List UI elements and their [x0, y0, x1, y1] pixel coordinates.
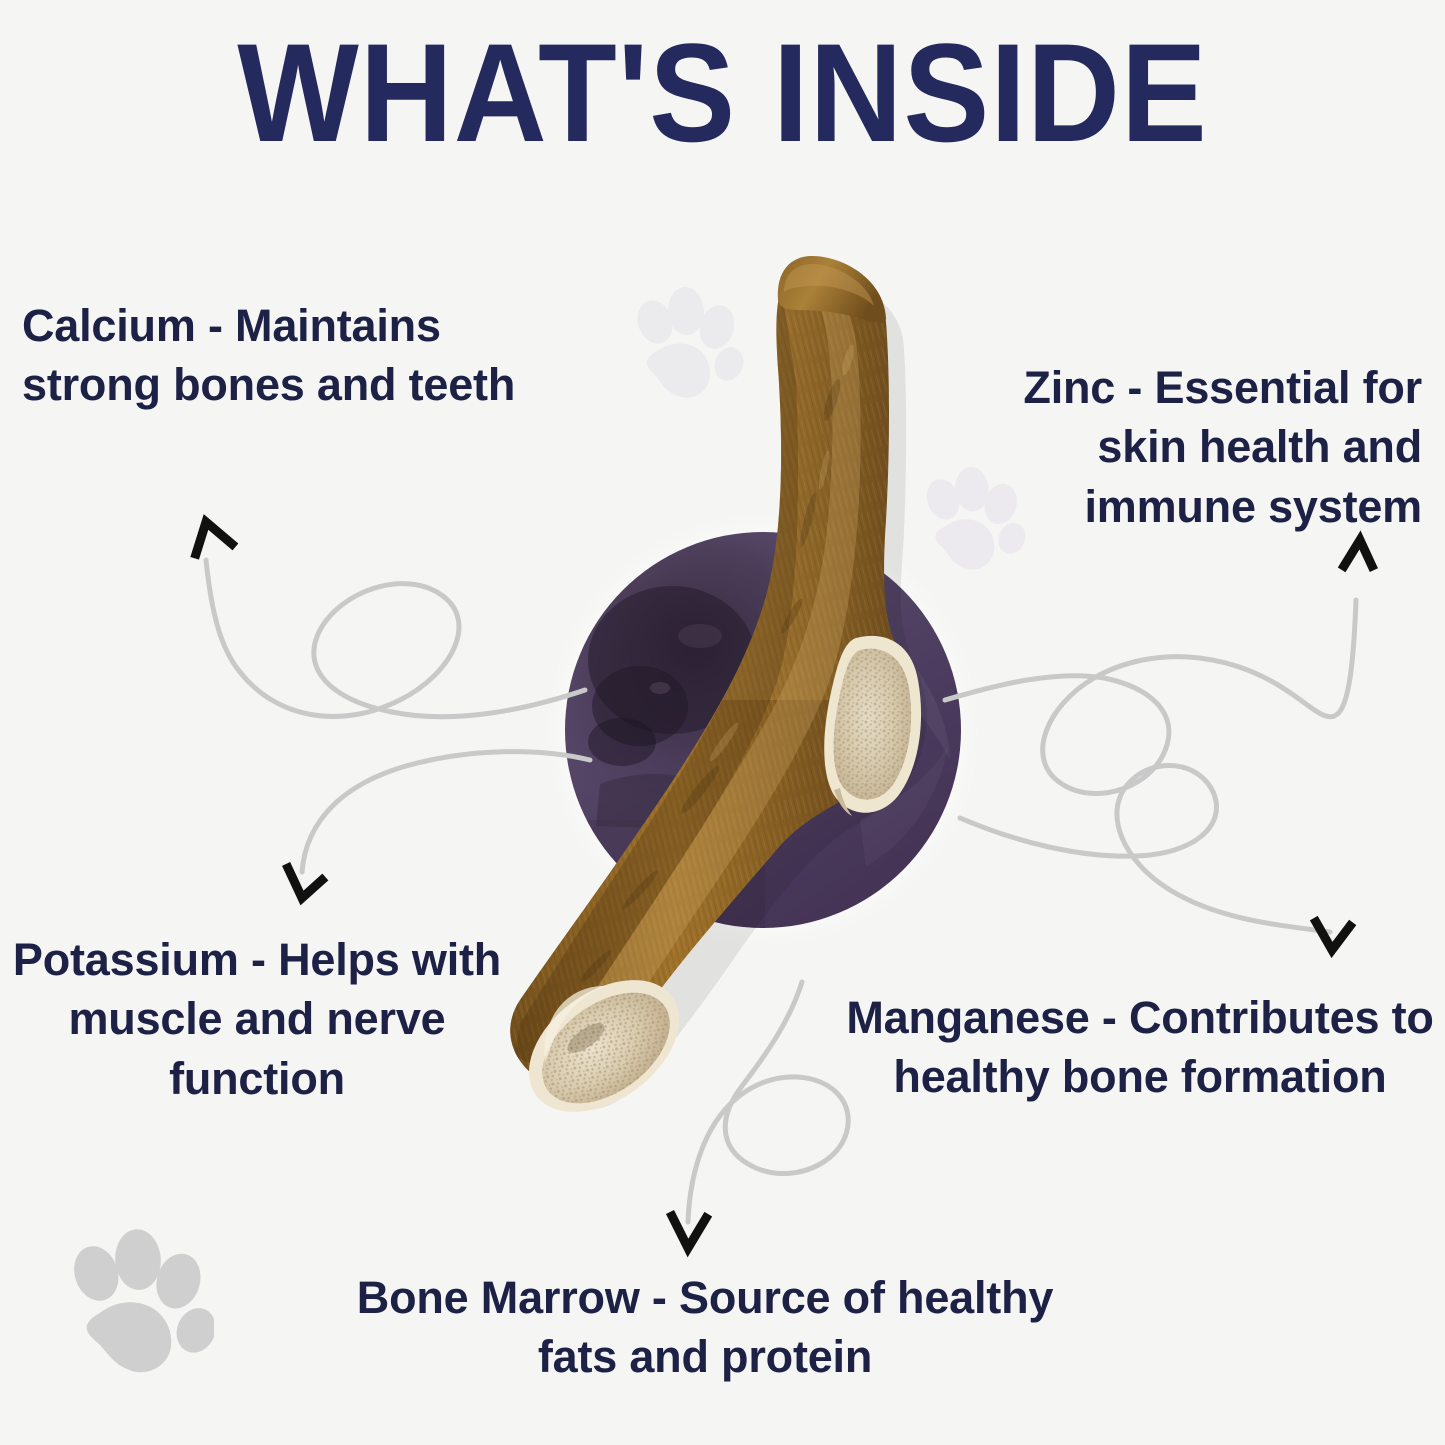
- connector-arrows: [0, 0, 1445, 1445]
- benefit-label-bone-marrow: Bone Marrow - Source of healthy fats and…: [320, 1268, 1090, 1387]
- arrowhead-zinc: [1344, 540, 1372, 566]
- marrow-cut-lower: [504, 953, 703, 1139]
- benefit-label-manganese: Manganese - Contributes to healthy bone …: [845, 988, 1435, 1107]
- page-title: WHAT'S INSIDE: [58, 22, 1387, 165]
- connector-zinc: [945, 600, 1356, 793]
- benefit-label-zinc: Zinc - Essential for skin health and imm…: [930, 358, 1422, 536]
- arrowhead-bone-marrow: [672, 1216, 706, 1248]
- connector-calcium: [206, 560, 585, 717]
- marrow-cut-upper: [824, 636, 921, 816]
- paw-print-bottom-left-icon: [62, 1228, 214, 1386]
- arrowhead-manganese: [1316, 922, 1350, 950]
- connector-bone-marrow: [688, 982, 848, 1222]
- benefit-label-potassium: Potassium - Helps with muscle and nerve …: [12, 930, 502, 1108]
- arrowhead-potassium: [288, 868, 322, 898]
- paw-print-top-center-icon: [625, 285, 745, 410]
- purple-circle: [565, 532, 961, 930]
- infographic-canvas: WHAT'S INSIDE: [0, 0, 1445, 1445]
- connector-potassium: [302, 752, 590, 872]
- product-artwork: [0, 0, 1445, 1445]
- arrowhead-calcium: [196, 522, 232, 554]
- connector-manganese: [960, 765, 1330, 932]
- benefit-label-calcium: Calcium - Maintains strong bones and tee…: [22, 296, 562, 415]
